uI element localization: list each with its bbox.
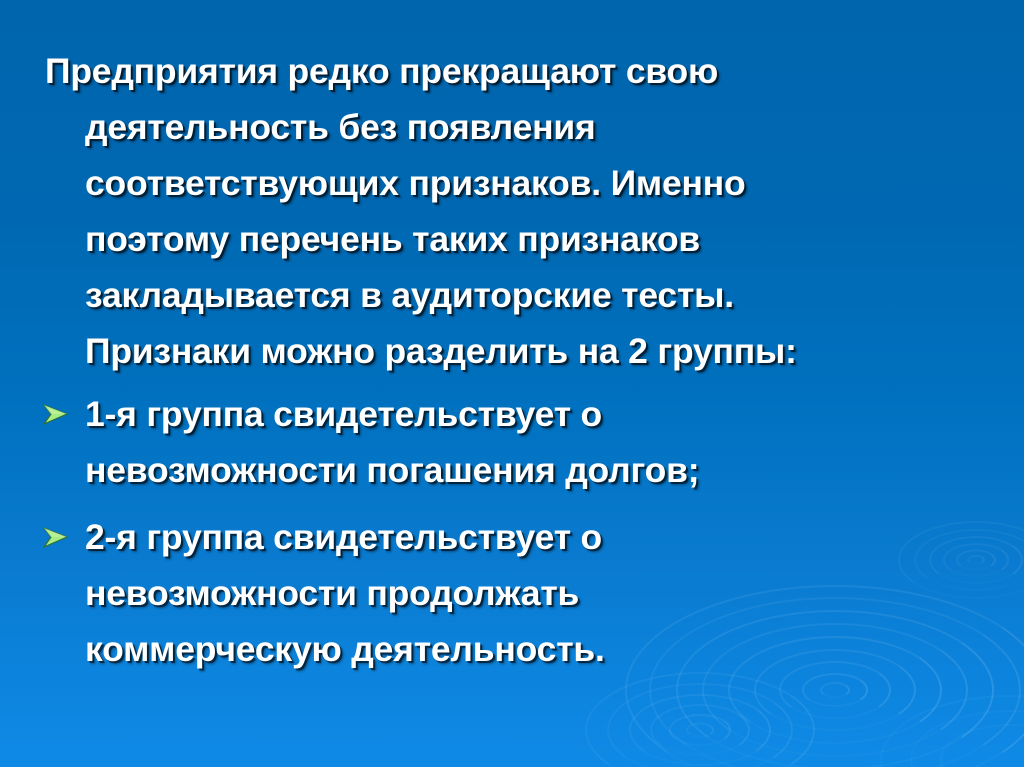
paragraph-line-1: Предприятия редко прекращают свою — [45, 54, 718, 90]
bullet-1-line-2: невозможности погашения долгов; — [85, 453, 699, 489]
bullet-2-line-3: коммерческую деятельность. — [85, 632, 605, 668]
paragraph-line-5: закладывается в аудиторские тесты. — [85, 278, 734, 314]
bullet-item-2: 2-я группа свидетельствует о — [0, 520, 1024, 556]
paragraph-line-4: поэтому перечень таких признаков — [85, 222, 700, 258]
bullet-2-line-2: невозможности продолжать — [85, 576, 579, 612]
arrowhead-bullet-icon — [40, 522, 70, 552]
paragraph-line-2: деятельность без появления — [85, 110, 596, 146]
paragraph-line-6: Признаки можно разделить на 2 группы: — [85, 334, 797, 370]
presentation-slide: Предприятия редко прекращают свою деятел… — [0, 0, 1024, 767]
bullet-item-1: 1-я группа свидетельствует о — [0, 397, 1024, 433]
paragraph-line-3: соответствующих признаков. Именно — [85, 166, 745, 202]
arrowhead-bullet-icon — [40, 399, 70, 429]
bullet-2-line-1: 2-я группа свидетельствует о — [85, 520, 602, 556]
bullet-1-line-1: 1-я группа свидетельствует о — [85, 397, 602, 433]
